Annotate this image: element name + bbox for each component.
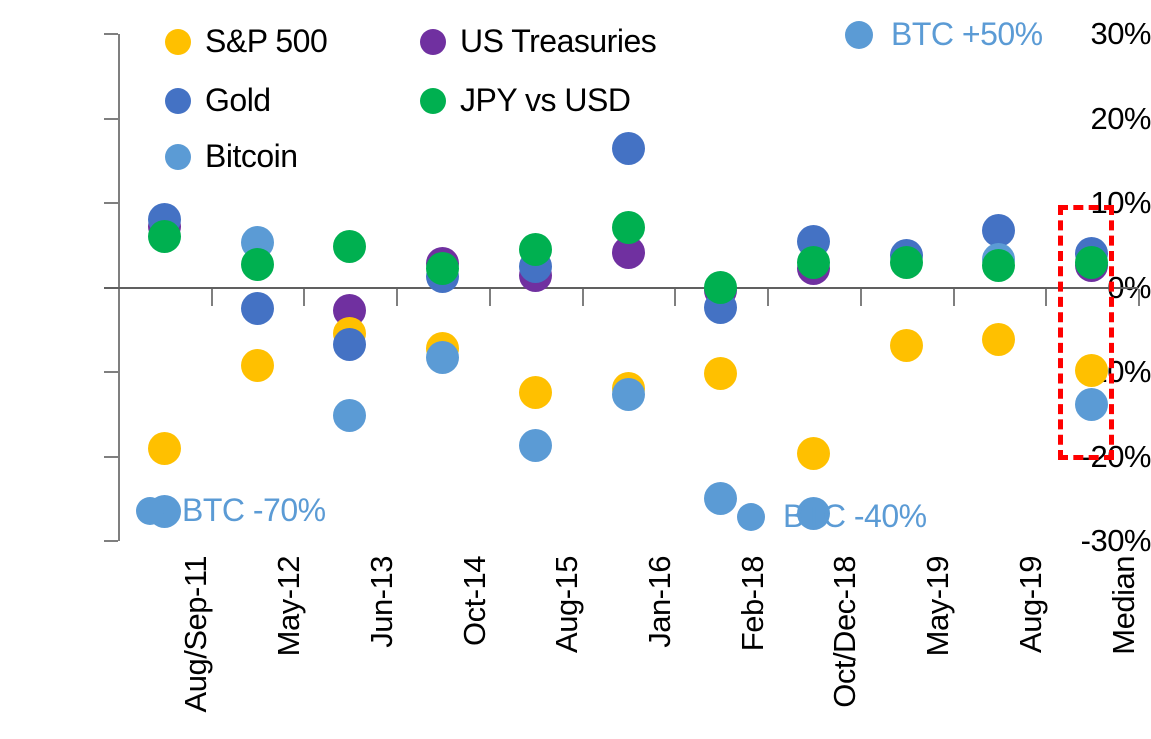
chart-annotation: BTC -70% bbox=[136, 492, 326, 529]
chart-annotation: BTC -40% bbox=[737, 498, 927, 535]
x-axis-tick bbox=[396, 289, 398, 306]
legend-item-label: Gold bbox=[205, 82, 271, 119]
data-point bbox=[612, 378, 645, 411]
data-point bbox=[982, 323, 1015, 356]
annotation-label: BTC -40% bbox=[783, 498, 927, 535]
data-point bbox=[612, 211, 645, 244]
annotation-label: BTC -70% bbox=[182, 492, 326, 529]
x-axis-tick-label: Feb-18 bbox=[735, 556, 771, 651]
data-point bbox=[333, 399, 366, 432]
y-axis-tick bbox=[104, 540, 118, 542]
y-axis-tick bbox=[104, 456, 118, 458]
legend-item: Bitcoin bbox=[165, 138, 298, 175]
legend-item: Gold bbox=[165, 82, 271, 119]
x-axis-tick bbox=[211, 289, 213, 306]
x-axis-tick-label: May-19 bbox=[920, 556, 956, 656]
x-axis-tick bbox=[860, 289, 862, 306]
legend-item: US Treasuries bbox=[420, 23, 656, 60]
zero-baseline bbox=[104, 287, 1138, 289]
annotation-dot-icon bbox=[737, 503, 765, 531]
data-point bbox=[704, 271, 737, 304]
annotation-dot-icon bbox=[136, 497, 164, 525]
data-point bbox=[890, 329, 923, 362]
x-axis-tick bbox=[303, 289, 305, 306]
data-point bbox=[612, 132, 645, 165]
legend-swatch-dot-icon bbox=[165, 88, 191, 114]
data-point bbox=[148, 432, 181, 465]
y-axis-tick bbox=[104, 118, 118, 120]
data-point bbox=[982, 214, 1015, 247]
data-point bbox=[426, 252, 459, 285]
y-axis-tick-label: 20% bbox=[1055, 103, 1151, 134]
x-axis-tick-label: Aug-19 bbox=[1013, 556, 1049, 653]
y-axis-tick-label: 30% bbox=[1055, 18, 1151, 49]
legend-item-label: JPY vs USD bbox=[460, 82, 630, 119]
x-axis-tick bbox=[1138, 289, 1140, 306]
data-point bbox=[241, 248, 274, 281]
x-axis-tick bbox=[582, 289, 584, 306]
data-point bbox=[890, 246, 923, 279]
data-point bbox=[982, 249, 1015, 282]
data-point bbox=[519, 233, 552, 266]
data-point bbox=[241, 292, 274, 325]
chart-container: S&P 500GoldBitcoinUS TreasuriesJPY vs US… bbox=[0, 0, 1151, 739]
x-axis-tick-label: May-12 bbox=[271, 556, 307, 656]
legend-item: JPY vs USD bbox=[420, 82, 630, 119]
x-axis-tick-label: Jan-16 bbox=[642, 556, 678, 648]
y-axis-tick bbox=[104, 202, 118, 204]
x-axis-tick bbox=[953, 289, 955, 306]
x-axis-tick bbox=[767, 289, 769, 306]
annotation-dot-icon bbox=[845, 21, 873, 49]
x-axis-tick bbox=[1045, 289, 1047, 306]
legend-swatch-dot-icon bbox=[420, 29, 446, 55]
legend-swatch-dot-icon bbox=[165, 144, 191, 170]
data-point bbox=[704, 482, 737, 515]
legend-item-label: US Treasuries bbox=[460, 23, 656, 60]
x-axis-tick bbox=[674, 289, 676, 306]
y-axis-tick-label: -30% bbox=[1055, 525, 1151, 556]
legend-swatch-dot-icon bbox=[165, 29, 191, 55]
data-point bbox=[333, 230, 366, 263]
data-point bbox=[797, 246, 830, 279]
data-point bbox=[241, 349, 274, 382]
x-axis-tick-label: Oct/Dec-18 bbox=[827, 556, 863, 708]
x-axis-tick-label: Aug/Sep-11 bbox=[178, 556, 214, 712]
data-point bbox=[797, 437, 830, 470]
data-point bbox=[519, 429, 552, 462]
x-axis-tick-label: Jun-13 bbox=[364, 556, 400, 648]
legend-item: S&P 500 bbox=[165, 23, 327, 60]
legend-item-label: Bitcoin bbox=[205, 138, 298, 175]
legend-swatch-dot-icon bbox=[420, 88, 446, 114]
data-point bbox=[148, 220, 181, 253]
chart-annotation: BTC +50% bbox=[845, 16, 1043, 53]
y-axis-tick bbox=[104, 371, 118, 373]
y-axis-tick bbox=[104, 33, 118, 35]
data-point bbox=[1075, 388, 1108, 421]
x-axis-tick bbox=[489, 289, 491, 306]
data-point bbox=[333, 328, 366, 361]
data-point bbox=[519, 376, 552, 409]
data-point bbox=[704, 357, 737, 390]
annotation-label: BTC +50% bbox=[891, 16, 1043, 53]
data-point bbox=[1075, 354, 1108, 387]
x-axis-tick bbox=[118, 289, 120, 306]
x-axis-tick-label: Oct-14 bbox=[457, 556, 493, 646]
data-point bbox=[426, 341, 459, 374]
x-axis-tick-label: Aug-15 bbox=[549, 556, 585, 653]
legend-item-label: S&P 500 bbox=[205, 23, 327, 60]
x-axis-tick-label: Median bbox=[1106, 556, 1142, 655]
